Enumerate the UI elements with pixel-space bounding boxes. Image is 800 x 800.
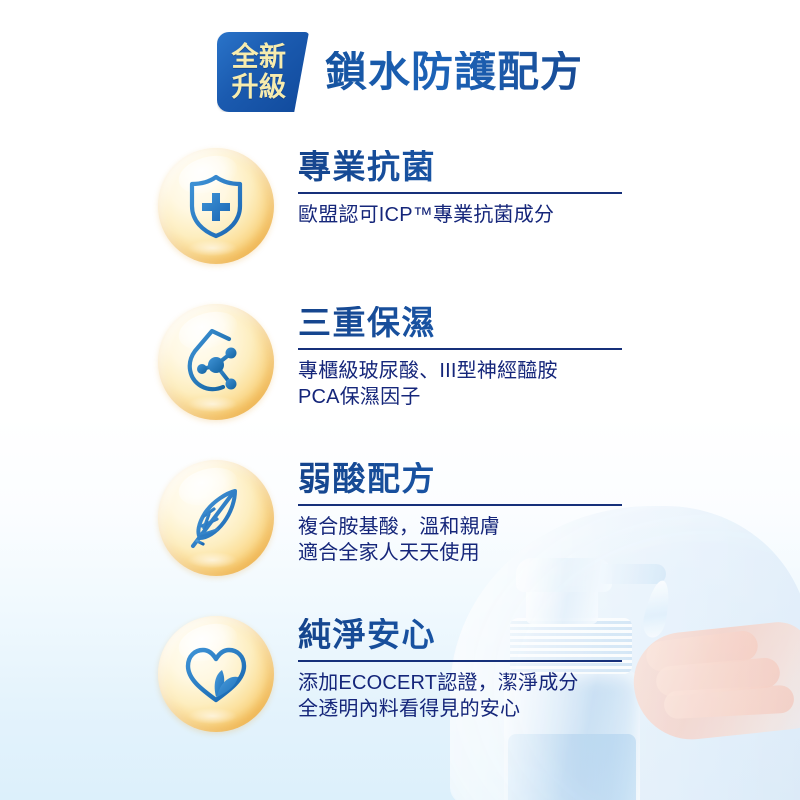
feature-desc-line: PCA保濕因子 (298, 384, 630, 410)
feature-text: 三重保濕 專櫃級玻尿酸、III型神經醯胺 PCA保濕因子 (298, 302, 630, 411)
water-drop-molecule-icon (158, 304, 274, 420)
feature-title: 三重保濕 (298, 306, 630, 341)
feature-list: 專業抗菌 歐盟認可ICP™專業抗菌成分 (0, 146, 800, 770)
feature-title: 專業抗菌 (298, 150, 630, 185)
feature-divider (298, 348, 622, 350)
feature-row-mild-formula: 弱酸配方 複合胺基酸，溫和親膚 適合全家人天天使用 (0, 458, 800, 614)
poster-header: 全新 升級 鎖水防護配方 (0, 32, 800, 112)
new-upgrade-badge: 全新 升級 (217, 32, 309, 112)
feature-row-antibacterial: 專業抗菌 歐盟認可ICP™專業抗菌成分 (0, 146, 800, 302)
shield-plus-icon (158, 148, 274, 264)
feature-desc-line: 複合胺基酸，溫和親膚 (298, 514, 630, 540)
poster-content: 全新 升級 鎖水防護配方 (0, 0, 800, 800)
feature-row-pure-safe: 純淨安心 添加ECOCERT認證，潔淨成分 全透明內料看得見的安心 (0, 614, 800, 770)
feature-desc-line: 全透明內料看得見的安心 (298, 696, 630, 722)
badge-line-2: 升級 (231, 73, 294, 101)
feather-icon (158, 460, 274, 576)
feature-title: 純淨安心 (298, 618, 630, 653)
feature-title: 弱酸配方 (298, 462, 630, 497)
feature-icon-bubble (158, 616, 274, 732)
feature-icon-bubble (158, 148, 274, 264)
feature-divider (298, 660, 622, 662)
feature-divider (298, 504, 622, 506)
heart-leaf-icon (158, 616, 274, 732)
feature-icon-bubble (158, 304, 274, 420)
feature-desc-line: 專櫃級玻尿酸、III型神經醯胺 (298, 358, 630, 384)
feature-desc-line: 適合全家人天天使用 (298, 540, 630, 566)
feature-desc-line: 歐盟認可ICP™專業抗菌成分 (298, 202, 630, 228)
product-feature-poster: 全新 升級 鎖水防護配方 (0, 0, 800, 800)
badge-line-1: 全新 (231, 43, 294, 71)
feature-text: 專業抗菌 歐盟認可ICP™專業抗菌成分 (298, 146, 630, 228)
feature-row-hydration: 三重保濕 專櫃級玻尿酸、III型神經醯胺 PCA保濕因子 (0, 302, 800, 458)
feature-text: 純淨安心 添加ECOCERT認證，潔淨成分 全透明內料看得見的安心 (298, 614, 630, 723)
feature-icon-bubble (158, 460, 274, 576)
feature-text: 弱酸配方 複合胺基酸，溫和親膚 適合全家人天天使用 (298, 458, 630, 567)
feature-divider (298, 192, 622, 194)
feature-desc-line: 添加ECOCERT認證，潔淨成分 (298, 670, 630, 696)
page-title: 鎖水防護配方 (325, 51, 583, 93)
